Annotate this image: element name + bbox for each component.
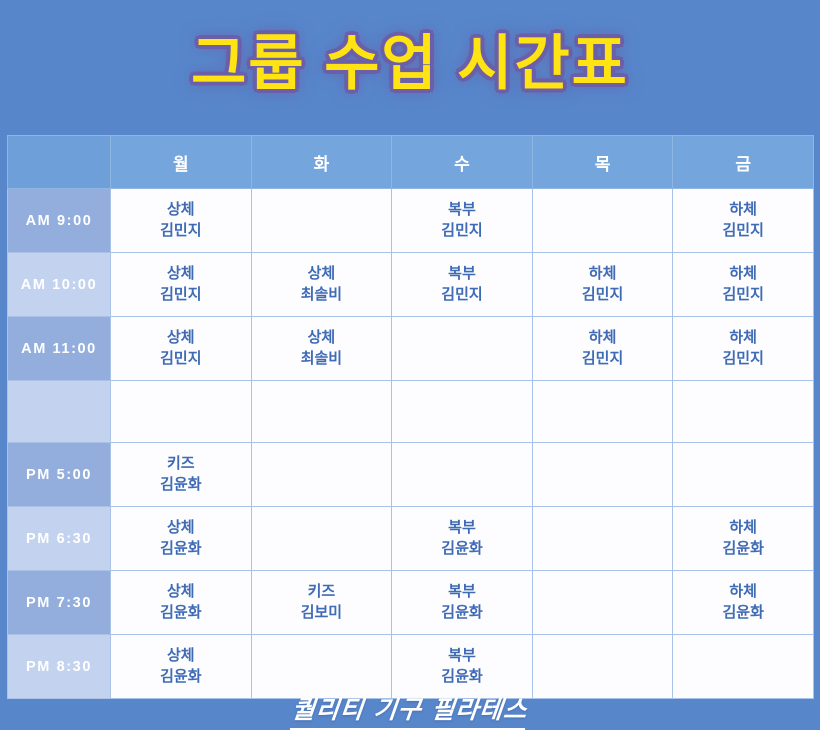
time-label: PM 6:30: [8, 507, 111, 571]
schedule-row: AM 9:00상체김민지복부김민지하체김민지: [8, 189, 814, 253]
schedule-row: PM 6:30상체김윤화복부김윤화하체김윤화: [8, 507, 814, 571]
class-name: 상체: [111, 518, 251, 538]
instructor-name: 김윤화: [392, 603, 532, 623]
class-cell[interactable]: 하체김민지: [673, 317, 814, 381]
instructor-name: 김윤화: [392, 539, 532, 559]
class-cell[interactable]: 상체김민지: [111, 253, 252, 317]
class-name: 키즈: [111, 454, 251, 474]
class-name: 상체: [111, 200, 251, 220]
time-label: AM 10:00: [8, 253, 111, 317]
time-column-header: [8, 136, 111, 189]
class-name: 상체: [252, 328, 392, 348]
day-header-thu: 목: [532, 136, 673, 189]
class-cell[interactable]: 복부김윤화: [392, 507, 533, 571]
empty-cell[interactable]: [251, 189, 392, 253]
day-header-fri: 금: [673, 136, 814, 189]
schedule-body: AM 9:00상체김민지복부김민지하체김민지AM 10:00상체김민지상체최솔비…: [8, 189, 814, 699]
class-cell[interactable]: 복부김민지: [392, 189, 533, 253]
empty-cell[interactable]: [673, 381, 814, 443]
class-name: 상체: [111, 646, 251, 666]
schedule-row: AM 10:00상체김민지상체최솔비복부김민지하체김민지하체김민지: [8, 253, 814, 317]
time-label: AM 11:00: [8, 317, 111, 381]
empty-cell[interactable]: [251, 507, 392, 571]
day-header-wed: 수: [392, 136, 533, 189]
class-name: 상체: [111, 328, 251, 348]
instructor-name: 김민지: [673, 221, 813, 241]
instructor-name: 김윤화: [111, 667, 251, 687]
class-cell[interactable]: 상체최솔비: [251, 317, 392, 381]
empty-cell[interactable]: [392, 381, 533, 443]
class-name: 하체: [673, 200, 813, 220]
instructor-name: 김민지: [111, 221, 251, 241]
instructor-name: 최솔비: [252, 285, 392, 305]
instructor-name: 김민지: [533, 285, 673, 305]
instructor-name: 김민지: [673, 349, 813, 369]
class-cell[interactable]: 복부김민지: [392, 253, 533, 317]
instructor-name: 김윤화: [111, 539, 251, 559]
footer: 퀄리티 기구 필라테스: [0, 690, 820, 730]
empty-cell[interactable]: [532, 381, 673, 443]
class-cell[interactable]: 키즈김보미: [251, 571, 392, 635]
class-cell[interactable]: 상체최솔비: [251, 253, 392, 317]
instructor-name: 김윤화: [111, 475, 251, 495]
class-name: 복부: [392, 582, 532, 602]
class-cell[interactable]: 하체김윤화: [673, 571, 814, 635]
class-cell[interactable]: 하체김민지: [532, 253, 673, 317]
schedule-row: PM 8:30상체김윤화복부김윤화: [8, 635, 814, 699]
class-name: 상체: [111, 264, 251, 284]
class-name: 복부: [392, 646, 532, 666]
class-name: 키즈: [252, 582, 392, 602]
empty-cell[interactable]: [532, 507, 673, 571]
class-cell[interactable]: 복부김윤화: [392, 635, 533, 699]
empty-cell[interactable]: [392, 317, 533, 381]
class-name: 하체: [673, 264, 813, 284]
class-name: 하체: [533, 328, 673, 348]
day-header-tue: 화: [251, 136, 392, 189]
empty-cell[interactable]: [111, 381, 252, 443]
empty-cell[interactable]: [673, 443, 814, 507]
class-cell[interactable]: 하체김윤화: [673, 507, 814, 571]
time-label: PM 8:30: [8, 635, 111, 699]
instructor-name: 최솔비: [252, 349, 392, 369]
instructor-name: 김윤화: [111, 603, 251, 623]
class-cell[interactable]: 키즈김윤화: [111, 443, 252, 507]
class-name: 하체: [673, 328, 813, 348]
day-header-mon: 월: [111, 136, 252, 189]
class-name: 복부: [392, 518, 532, 538]
schedule-row: PM 5:00키즈김윤화: [8, 443, 814, 507]
time-label: AM 9:00: [8, 189, 111, 253]
empty-cell[interactable]: [673, 635, 814, 699]
class-name: 복부: [392, 200, 532, 220]
instructor-name: 김민지: [111, 285, 251, 305]
instructor-name: 김윤화: [392, 667, 532, 687]
class-name: 상체: [252, 264, 392, 284]
time-label: [8, 381, 111, 443]
title-banner: 그룹 수업 시간표: [0, 0, 820, 128]
class-name: 하체: [533, 264, 673, 284]
class-cell[interactable]: 상체김윤화: [111, 571, 252, 635]
time-label: PM 7:30: [8, 571, 111, 635]
instructor-name: 김윤화: [673, 539, 813, 559]
class-cell[interactable]: 하체김민지: [673, 189, 814, 253]
schedule-table: 월 화 수 목 금 AM 9:00상체김민지복부김민지하체김민지AM 10:00…: [7, 135, 814, 699]
time-label: PM 5:00: [8, 443, 111, 507]
class-name: 하체: [673, 582, 813, 602]
page-title: 그룹 수업 시간표: [191, 34, 629, 94]
instructor-name: 김민지: [673, 285, 813, 305]
empty-cell[interactable]: [532, 635, 673, 699]
schedule-header: 월 화 수 목 금: [8, 136, 814, 189]
schedule-row: AM 11:00상체김민지상체최솔비하체김민지하체김민지: [8, 317, 814, 381]
class-cell[interactable]: 하체김민지: [673, 253, 814, 317]
empty-cell[interactable]: [251, 443, 392, 507]
footer-brand-text: 퀄리티 기구 필라테스: [290, 690, 530, 730]
instructor-name: 김민지: [392, 221, 532, 241]
class-name: 복부: [392, 264, 532, 284]
class-cell[interactable]: 상체김민지: [111, 189, 252, 253]
empty-cell[interactable]: [532, 189, 673, 253]
empty-cell[interactable]: [251, 635, 392, 699]
empty-cell[interactable]: [532, 571, 673, 635]
empty-cell[interactable]: [251, 381, 392, 443]
instructor-name: 김보미: [252, 603, 392, 623]
class-name: 하체: [673, 518, 813, 538]
instructor-name: 김민지: [392, 285, 532, 305]
class-cell[interactable]: 상체김민지: [111, 317, 252, 381]
class-cell[interactable]: 상체김윤화: [111, 507, 252, 571]
class-cell[interactable]: 하체김민지: [532, 317, 673, 381]
empty-cell[interactable]: [392, 443, 533, 507]
class-name: 상체: [111, 582, 251, 602]
schedule-row: [8, 381, 814, 443]
class-cell[interactable]: 상체김윤화: [111, 635, 252, 699]
day-header-row: 월 화 수 목 금: [8, 136, 814, 189]
class-cell[interactable]: 복부김윤화: [392, 571, 533, 635]
instructor-name: 김민지: [111, 349, 251, 369]
instructor-name: 김윤화: [673, 603, 813, 623]
schedule-row: PM 7:30상체김윤화키즈김보미복부김윤화하체김윤화: [8, 571, 814, 635]
empty-cell[interactable]: [532, 443, 673, 507]
instructor-name: 김민지: [533, 349, 673, 369]
